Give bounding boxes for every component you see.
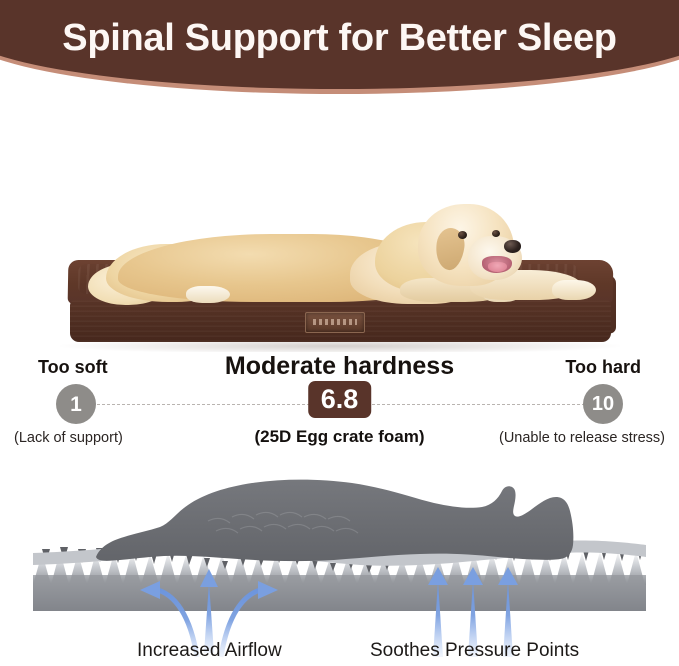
scale-marker-min: 1 [56,384,96,424]
product-photo [0,100,679,352]
golden-retriever [100,208,600,303]
brand-tag-icon [305,312,365,333]
scale-caption-hard: (Unable to release stress) [499,430,665,446]
header-banner: Spinal Support for Better Sleep [0,0,679,100]
scale-marker-max: 10 [583,384,623,424]
dog-back-paw [186,286,230,303]
scale-label-hard: Too hard [565,357,641,378]
dog-right-eye [492,230,500,237]
dog-front-paw [552,280,596,300]
infographic-page: Spinal Support for Better Sleep [0,0,679,666]
dog-silhouette [96,480,573,561]
hardness-scale: Too soft Moderate hardness Too hard 1 6.… [0,352,679,457]
airflow-label: Increased Airflow [137,640,282,662]
dog-tongue [488,262,507,272]
pressure-points-label: Soothes Pressure Points [370,640,579,662]
dog-left-eye [458,231,467,239]
foam-cross-section-diagram [0,457,679,666]
page-title: Spinal Support for Better Sleep [0,17,679,60]
dog-nose [504,240,521,253]
scale-value-badge: 6.8 [308,381,372,418]
